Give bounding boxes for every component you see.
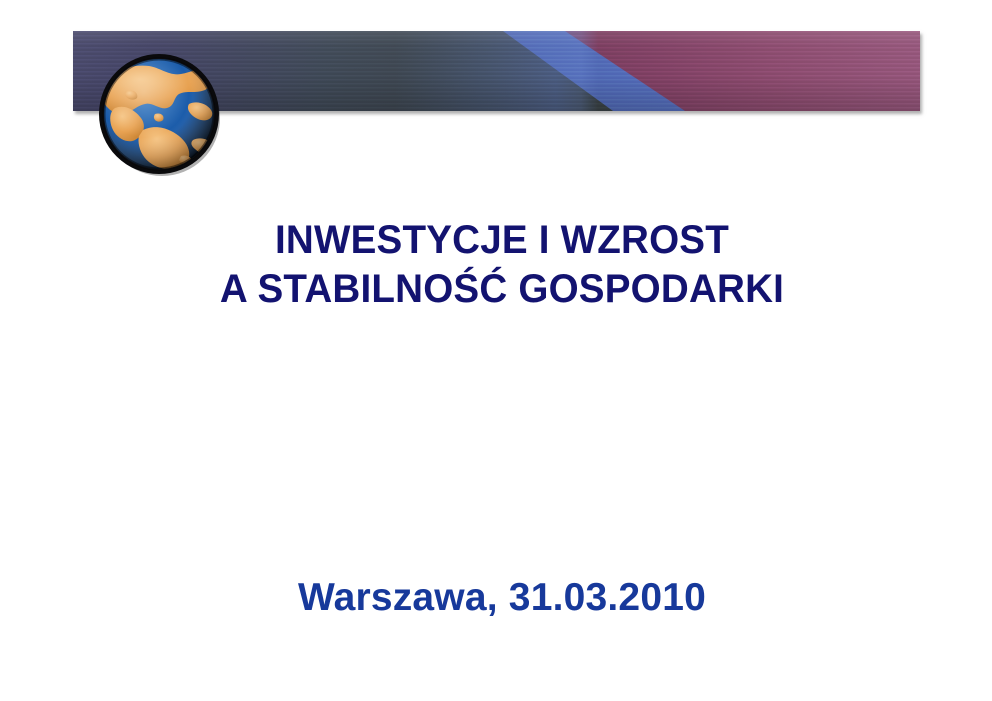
- slide-title-line-1: INWESTYCJE I WZROST: [106, 216, 897, 265]
- slide-subtitle: Warszawa, 31.03.2010: [92, 575, 912, 622]
- slide-title-line-2: A STABILNOŚĆ GOSPODARKI: [106, 265, 897, 314]
- slide-title: INWESTYCJE I WZROST A STABILNOŚĆ GOSPODA…: [92, 216, 912, 314]
- presentation-slide: INWESTYCJE I WZROST A STABILNOŚĆ GOSPODA…: [0, 0, 992, 701]
- slide-subtitle-text: Warszawa, 31.03.2010: [92, 575, 912, 622]
- globe-icon: [97, 52, 223, 178]
